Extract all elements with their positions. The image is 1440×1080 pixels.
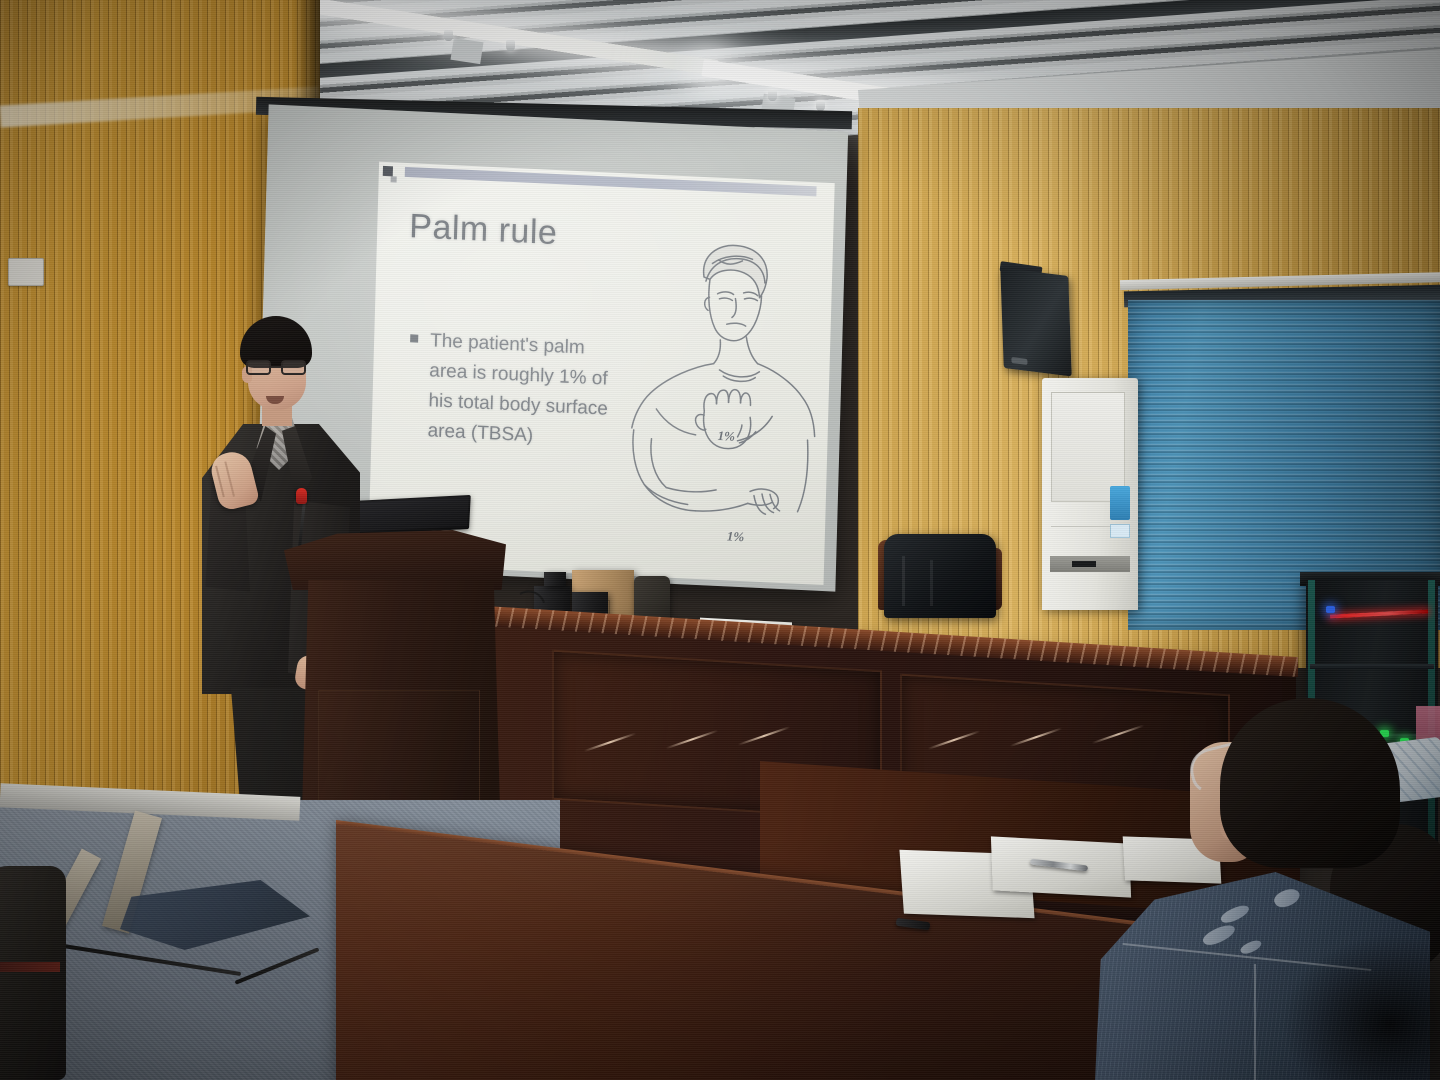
slide-logo-icon-secondary: [391, 176, 397, 182]
slide-bullet-block: The patient's palm area is roughly 1% of…: [407, 325, 626, 455]
lecture-room-photo: Palm rule The patient's palm area is rou…: [0, 0, 1440, 1080]
jacket-seam-center: [1254, 964, 1256, 1080]
ac-sticker: [1110, 524, 1130, 538]
seat-accent-band: [0, 962, 60, 972]
figure-annotation-hand: 1%: [727, 528, 745, 545]
slide-title: Palm rule: [409, 207, 558, 253]
glasses-lens-left: [246, 360, 271, 375]
leather-executive-chair[interactable]: [884, 534, 996, 618]
rack-led-blue-1: [1326, 606, 1335, 613]
microphone-head[interactable]: [296, 488, 307, 504]
ac-control-vent[interactable]: [1050, 556, 1130, 572]
attendee-shadow: [1282, 934, 1440, 1080]
ceiling-spot-2: [506, 40, 515, 51]
wall-plate: [8, 258, 44, 286]
slide-logo-icon: [383, 166, 393, 176]
presenter-glasses: [246, 360, 308, 376]
rack-shelf-1: [1310, 664, 1434, 669]
ceiling-spot-3: [768, 90, 777, 101]
lamp-bracket-1: [450, 38, 483, 64]
chair-crease-1: [902, 556, 905, 606]
left-foreground-seat[interactable]: [0, 866, 66, 1080]
small-black-device: [544, 572, 566, 586]
ceiling-spot-1: [444, 30, 453, 41]
torso-palm-diagram: 1% 1%: [618, 231, 827, 570]
podium-front-panel: [318, 690, 480, 810]
seated-attendee: [1072, 694, 1440, 1080]
air-conditioner-unit[interactable]: [1042, 378, 1138, 610]
slide-bullet-text: The patient's palm area is roughly 1% of…: [427, 326, 626, 455]
attendee-hair: [1220, 698, 1400, 868]
square-bullet-icon: [410, 334, 418, 342]
ac-energy-label: [1110, 486, 1130, 520]
wall-speaker: [1000, 268, 1071, 377]
slide-header-bar: [405, 167, 817, 196]
glasses-bridge: [271, 366, 281, 368]
glasses-lens-right: [281, 360, 306, 375]
ceiling-spot-4: [816, 100, 825, 111]
figure-annotation-chest: 1%: [717, 428, 735, 445]
chair-crease-2: [930, 560, 933, 606]
